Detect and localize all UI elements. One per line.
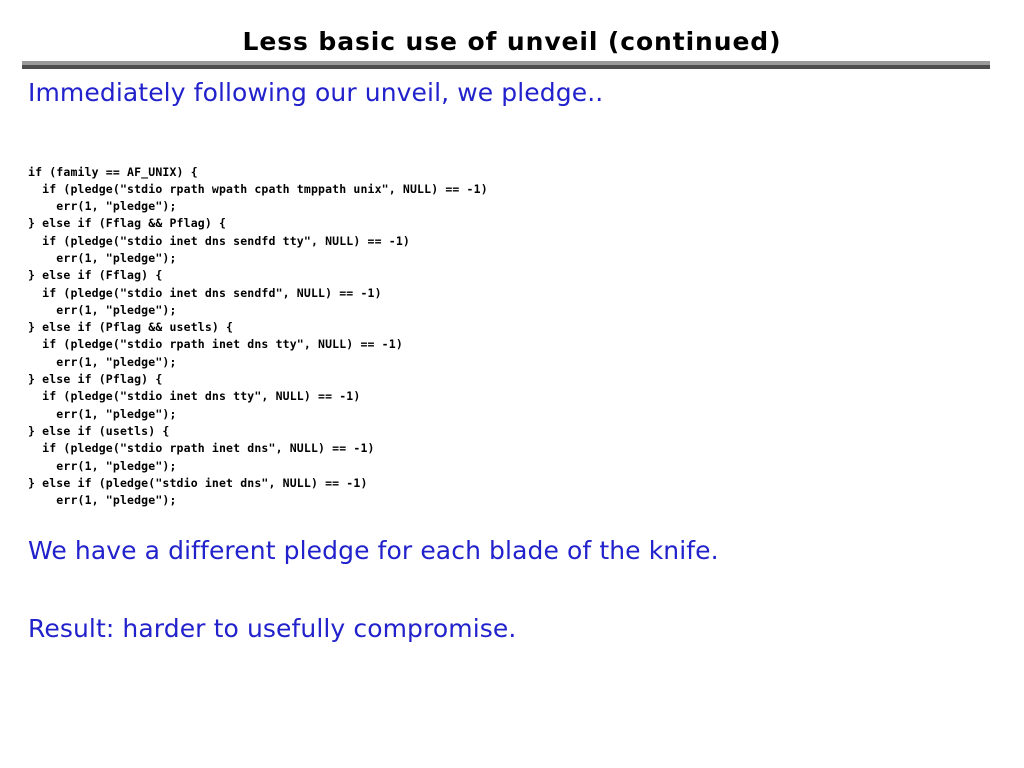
code-line: err(1, "pledge"); bbox=[28, 198, 488, 215]
code-line: } else if (Fflag) { bbox=[28, 267, 488, 284]
lead-text: Immediately following our unveil, we ple… bbox=[28, 78, 603, 108]
title-divider bbox=[22, 61, 990, 69]
code-line: } else if (Pflag) { bbox=[28, 371, 488, 388]
middle-text: We have a different pledge for each blad… bbox=[28, 536, 719, 566]
presentation-slide: Less basic use of unveil (continued) Imm… bbox=[0, 0, 1024, 768]
code-line: } else if (usetls) { bbox=[28, 423, 488, 440]
code-line: err(1, "pledge"); bbox=[28, 458, 488, 475]
code-line: if (pledge("stdio rpath inet dns", NULL)… bbox=[28, 440, 488, 457]
code-line: } else if (Pflag && usetls) { bbox=[28, 319, 488, 336]
code-line: err(1, "pledge"); bbox=[28, 492, 488, 509]
code-line: if (pledge("stdio inet dns sendfd tty", … bbox=[28, 233, 488, 250]
code-line: err(1, "pledge"); bbox=[28, 406, 488, 423]
code-line: } else if (pledge("stdio inet dns", NULL… bbox=[28, 475, 488, 492]
code-block: if (family == AF_UNIX) { if (pledge("std… bbox=[28, 164, 488, 510]
code-line: if (pledge("stdio rpath inet dns tty", N… bbox=[28, 336, 488, 353]
code-line: if (pledge("stdio rpath wpath cpath tmpp… bbox=[28, 181, 488, 198]
page-title: Less basic use of unveil (continued) bbox=[0, 26, 1024, 58]
code-line: err(1, "pledge"); bbox=[28, 302, 488, 319]
code-line: if (pledge("stdio inet dns tty", NULL) =… bbox=[28, 388, 488, 405]
divider-bottom-band bbox=[22, 65, 990, 69]
code-line: if (family == AF_UNIX) { bbox=[28, 164, 488, 181]
code-line: if (pledge("stdio inet dns sendfd", NULL… bbox=[28, 285, 488, 302]
code-line: err(1, "pledge"); bbox=[28, 354, 488, 371]
code-line: err(1, "pledge"); bbox=[28, 250, 488, 267]
code-line: } else if (Fflag && Pflag) { bbox=[28, 215, 488, 232]
result-text: Result: harder to usefully compromise. bbox=[28, 614, 516, 644]
